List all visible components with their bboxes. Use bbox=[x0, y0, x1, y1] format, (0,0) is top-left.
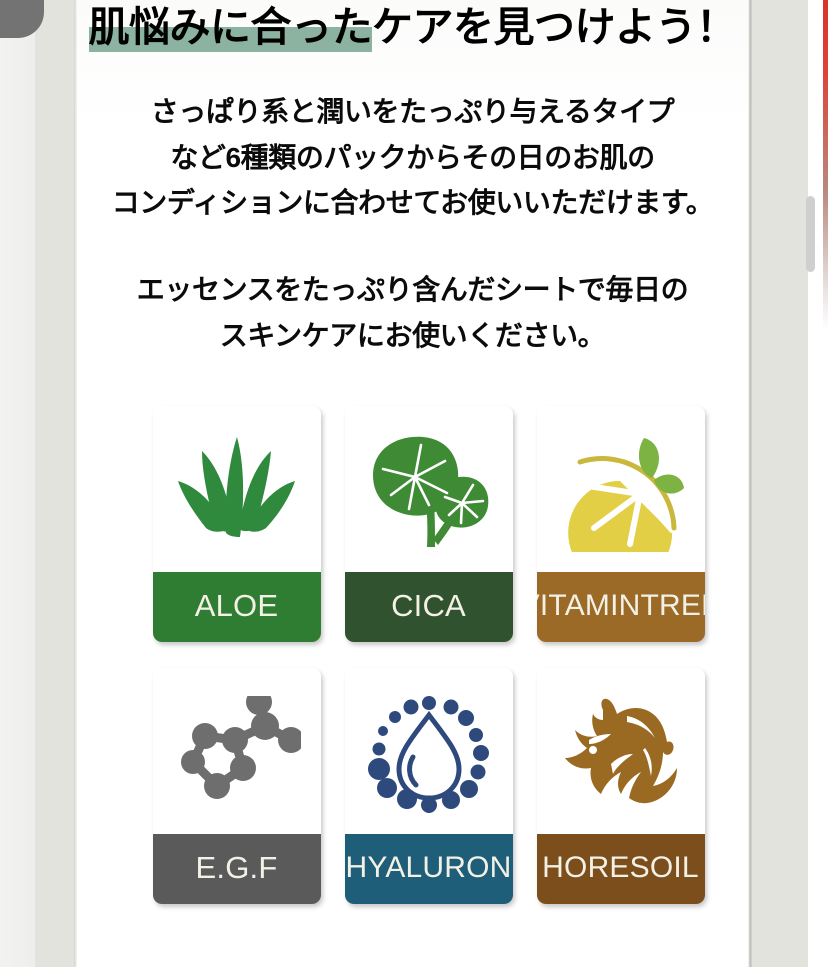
card-label-aloe: ALOE bbox=[153, 572, 321, 642]
ingredient-card-egf[interactable]: E.G.F bbox=[153, 668, 321, 904]
horse-head-icon bbox=[559, 696, 683, 812]
intro-line-1: さっぱり系と潤いをたっぷり与えるタイプ bbox=[77, 89, 748, 134]
ingredient-card-cica[interactable]: CICA bbox=[345, 406, 513, 642]
card-art-egf bbox=[153, 668, 321, 834]
page-title-highlight: 肌悩みに合った bbox=[89, 4, 373, 52]
intro-line-2: など6種類のパックからその日のお肌の bbox=[77, 135, 748, 180]
ingredient-card-hores-oil[interactable]: HORESOIL bbox=[537, 668, 705, 904]
card-label-line-1: HORES bbox=[542, 853, 650, 884]
usage-line-2: スキンケアにお使いください。 bbox=[77, 313, 748, 358]
card-art-hores-oil bbox=[537, 668, 705, 834]
water-droplet-icon bbox=[365, 695, 493, 813]
page-gutter-left bbox=[0, 0, 35, 967]
card-art-aloe bbox=[153, 406, 321, 572]
card-label-cica: CICA bbox=[345, 572, 513, 642]
aloe-plant-icon bbox=[174, 433, 300, 551]
ingredient-card-vitamin-tree[interactable]: VITAMINTREE bbox=[537, 406, 705, 642]
card-label-hyaluron: HYALURON bbox=[345, 834, 513, 904]
card-label-line-1: VITAMIN bbox=[537, 591, 641, 622]
centella-leaf-icon bbox=[365, 431, 493, 553]
card-label-vitamin-tree: VITAMINTREE bbox=[537, 572, 705, 642]
vertical-scrollbar[interactable] bbox=[810, 0, 822, 967]
page-side-band-left bbox=[35, 0, 76, 967]
page-title: 肌悩みに合ったケアを見つけよう！ bbox=[77, 0, 748, 53]
scrollbar-thumb[interactable] bbox=[806, 196, 815, 272]
intro-line-3: コンディションに合わせてお使いいただけます。 bbox=[77, 180, 748, 225]
card-label-line-2: TREE bbox=[641, 591, 705, 622]
molecule-icon bbox=[173, 696, 301, 812]
lemon-slice-icon bbox=[558, 432, 684, 552]
card-label-hores-oil: HORESOIL bbox=[537, 834, 705, 904]
card-label-line-2: RON bbox=[444, 853, 511, 884]
card-label-line-1: HYALU bbox=[345, 853, 444, 884]
card-art-hyaluron bbox=[345, 668, 513, 834]
article-content: 肌悩みに合ったケアを見つけよう！ さっぱり系と潤いをたっぷり与えるタイプ など6… bbox=[77, 0, 748, 904]
intro-paragraph: さっぱり系と潤いをたっぷり与えるタイプ など6種類のパックからその日のお肌の コ… bbox=[77, 89, 748, 225]
ingredient-card-aloe[interactable]: ALOE bbox=[153, 406, 321, 642]
usage-paragraph: エッセンスをたっぷり含んだシートで毎日の スキンケアにお使いください。 bbox=[77, 267, 748, 358]
red-accent-sliver bbox=[823, 0, 828, 330]
usage-line-1: エッセンスをたっぷり含んだシートで毎日の bbox=[77, 267, 748, 312]
ingredient-card-hyaluron[interactable]: HYALURON bbox=[345, 668, 513, 904]
ingredient-grid: ALOE bbox=[93, 358, 733, 904]
page-title-rest: ケアを見つけよう！ bbox=[372, 4, 737, 50]
card-art-vitamin-tree bbox=[537, 406, 705, 572]
card-label-egf: E.G.F bbox=[153, 834, 321, 904]
card-art-cica bbox=[345, 406, 513, 572]
browser-viewport: 肌悩みに合ったケアを見つけよう！ さっぱり系と潤いをたっぷり与えるタイプ など6… bbox=[0, 0, 828, 967]
page-side-band-right bbox=[752, 0, 808, 967]
card-label-line-2: OIL bbox=[650, 853, 699, 884]
